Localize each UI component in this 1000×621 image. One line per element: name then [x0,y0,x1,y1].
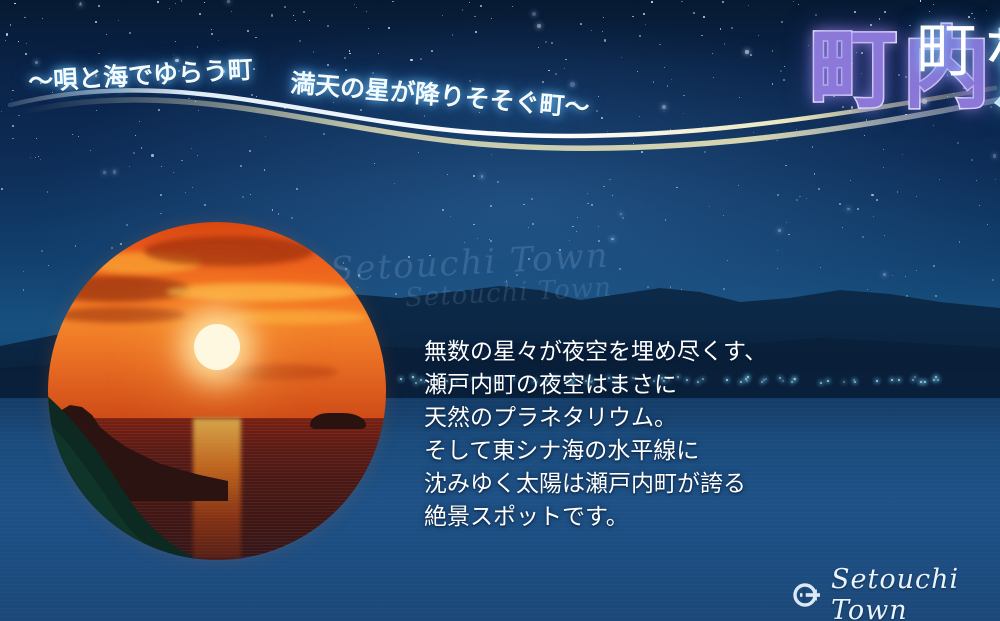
star [481,175,484,178]
star [758,35,759,36]
star [295,20,296,21]
star [18,41,19,42]
star [199,13,201,15]
star [14,3,16,5]
cloud-band [228,310,368,324]
town-light [920,381,922,383]
body-copy: 無数の星々が夜空を埋め尽くす、 瀬戸内町の夜空はまさに 天然のプラネタリウム。 … [424,336,844,534]
star [523,204,525,206]
cloud-band [56,307,186,323]
star [933,4,934,5]
star [745,50,748,53]
star [577,217,578,218]
star [10,24,12,26]
star [442,15,443,16]
star [639,35,641,37]
star [278,213,280,215]
star [313,51,315,53]
star [532,223,534,225]
star [818,188,820,190]
star [632,16,634,18]
star [344,57,346,59]
star [299,40,301,42]
town-light [400,378,402,380]
star [814,173,816,175]
star [603,186,605,188]
star [197,46,199,48]
star [720,28,721,29]
star [271,14,273,16]
star [26,43,27,44]
star [659,44,661,46]
star [772,50,774,52]
star [987,224,988,225]
body-line: 沈みゆく太陽は瀬戸内町が誇る [424,468,844,501]
town-light [853,379,855,381]
star [497,181,499,183]
star [693,12,695,14]
star [806,198,807,199]
star [709,206,710,207]
star [879,18,881,20]
star [621,57,622,58]
star [231,11,232,12]
star [473,224,475,226]
star [723,215,724,216]
star [738,185,739,186]
logo-wordmark: Setouchi Town [831,564,1000,621]
star [113,170,117,174]
star [160,213,161,214]
star [551,42,553,44]
town-light [891,379,893,381]
star [598,226,599,227]
cloud-band [144,236,314,266]
star [462,9,464,11]
town-light [415,382,417,384]
star [247,30,249,32]
star [854,11,856,13]
star [920,0,922,2]
star [490,205,492,207]
star [587,203,589,205]
star [293,15,294,16]
star [118,20,119,21]
star [731,27,733,29]
star [464,242,465,243]
star [185,192,187,194]
star [897,191,898,192]
star [474,16,476,18]
star [450,216,451,217]
star [354,4,355,5]
star [181,0,183,2]
town-light [914,376,916,378]
star [591,30,593,32]
body-line: 瀬戸内町の夜空はまさに [424,369,844,402]
star [442,209,444,211]
star [724,43,726,45]
star [777,194,779,196]
star [512,6,513,7]
star [356,7,357,8]
star [537,24,541,28]
star [452,34,454,36]
star [250,194,251,195]
star [799,196,801,198]
star [173,54,174,55]
star [976,180,977,181]
star [620,213,623,216]
star [603,17,604,18]
star [394,183,395,184]
star [643,13,645,15]
star [431,50,433,52]
star [604,39,606,41]
star [995,179,996,180]
star [284,6,286,8]
star [645,24,646,25]
catch-phrase-vertical: 自 然 の 宝 石 の よ う な 町 [908,18,1000,78]
star [175,41,176,42]
star [366,11,368,13]
star [98,5,100,7]
star [862,236,864,238]
star [665,219,667,221]
star [842,227,843,228]
star [218,40,219,41]
body-line: 天然のプラネタリウム。 [424,402,844,435]
town-light [412,376,414,378]
star [971,13,973,15]
star [327,25,329,27]
star [986,10,987,11]
star [591,204,593,206]
catch-char: 町 [908,18,974,78]
town-light [937,379,939,381]
star [612,195,613,196]
star [447,174,448,175]
body-line: 無数の星々が夜空を埋め尽くす、 [424,336,844,369]
star [491,18,493,20]
star [98,53,100,55]
star [622,217,624,219]
star [204,204,206,206]
star [349,50,351,52]
star [129,32,131,34]
star [576,231,577,232]
star [303,11,305,13]
star [884,11,886,13]
star [388,27,390,29]
star [572,226,574,228]
star [939,179,940,180]
town-light [898,379,900,381]
star [587,193,588,194]
star [712,53,713,54]
star [291,217,293,219]
star [106,34,107,35]
star [173,172,174,173]
star [475,31,477,33]
star [538,47,539,48]
star [169,8,170,9]
star [798,4,800,6]
setouchi-town-logo: Setouchi Town [792,564,1000,621]
star [722,1,724,3]
town-light [854,381,856,383]
star [531,198,533,200]
star [979,205,980,206]
star [24,17,26,19]
star [175,3,176,4]
sunset-photo-circle [48,222,386,560]
star [873,216,874,217]
star [598,240,600,242]
star [528,227,529,228]
town-light [912,379,914,381]
star [847,208,850,211]
star [703,16,705,18]
star [781,21,783,23]
star [545,41,547,43]
star [651,1,653,3]
star [211,33,213,35]
star [580,23,582,25]
star [876,199,878,201]
star [477,238,478,239]
star [227,0,230,3]
cloud-band [166,283,356,301]
sun-disc [194,324,240,370]
star [532,12,536,16]
star [850,180,851,181]
star [748,5,749,6]
star [309,20,310,21]
star [378,53,379,54]
star [5,40,6,41]
star [47,191,49,193]
town-light [924,381,926,383]
star [701,35,703,37]
star [884,235,885,236]
star [103,171,107,175]
star [676,187,678,189]
star [490,240,492,242]
body-line: そして東シナ海の水平線に [424,435,844,468]
town-light [420,379,422,381]
star [480,5,482,7]
star [272,209,274,211]
star [609,179,611,181]
cloud-band [218,364,338,380]
star [255,37,257,39]
star [959,241,960,242]
star [796,199,798,201]
star [157,1,159,3]
setouchi-circle-emblem-icon [792,580,822,610]
body-line: 絶景スポットです。 [424,501,844,534]
poster-canvas: Setouchi Town Setouchi Town [0,0,1000,621]
star [211,29,213,31]
star [793,1,794,2]
star [473,175,475,177]
star [349,53,351,55]
star [25,53,27,55]
star [569,240,570,241]
star [392,1,394,3]
star [602,31,603,32]
star [857,208,859,210]
star [160,194,162,196]
town-light [876,380,878,382]
star [42,18,43,19]
star [242,196,244,198]
town-light [933,379,935,381]
star [916,196,917,197]
star [871,194,873,196]
star [95,21,97,23]
town-light [935,376,937,378]
star [750,54,752,56]
star [788,234,789,235]
star [929,11,930,12]
star [839,203,841,205]
star [469,2,471,4]
star [6,33,8,35]
star [192,187,193,188]
star [1,188,3,190]
star [681,1,683,3]
town-name-char: 町 [800,22,893,112]
star [778,229,781,232]
star [204,2,205,3]
star [368,28,369,29]
star [296,188,298,190]
star [611,238,614,241]
star [786,222,787,223]
catch-char: な [974,18,1000,78]
star [815,14,817,16]
foreground-foliage [48,380,358,560]
